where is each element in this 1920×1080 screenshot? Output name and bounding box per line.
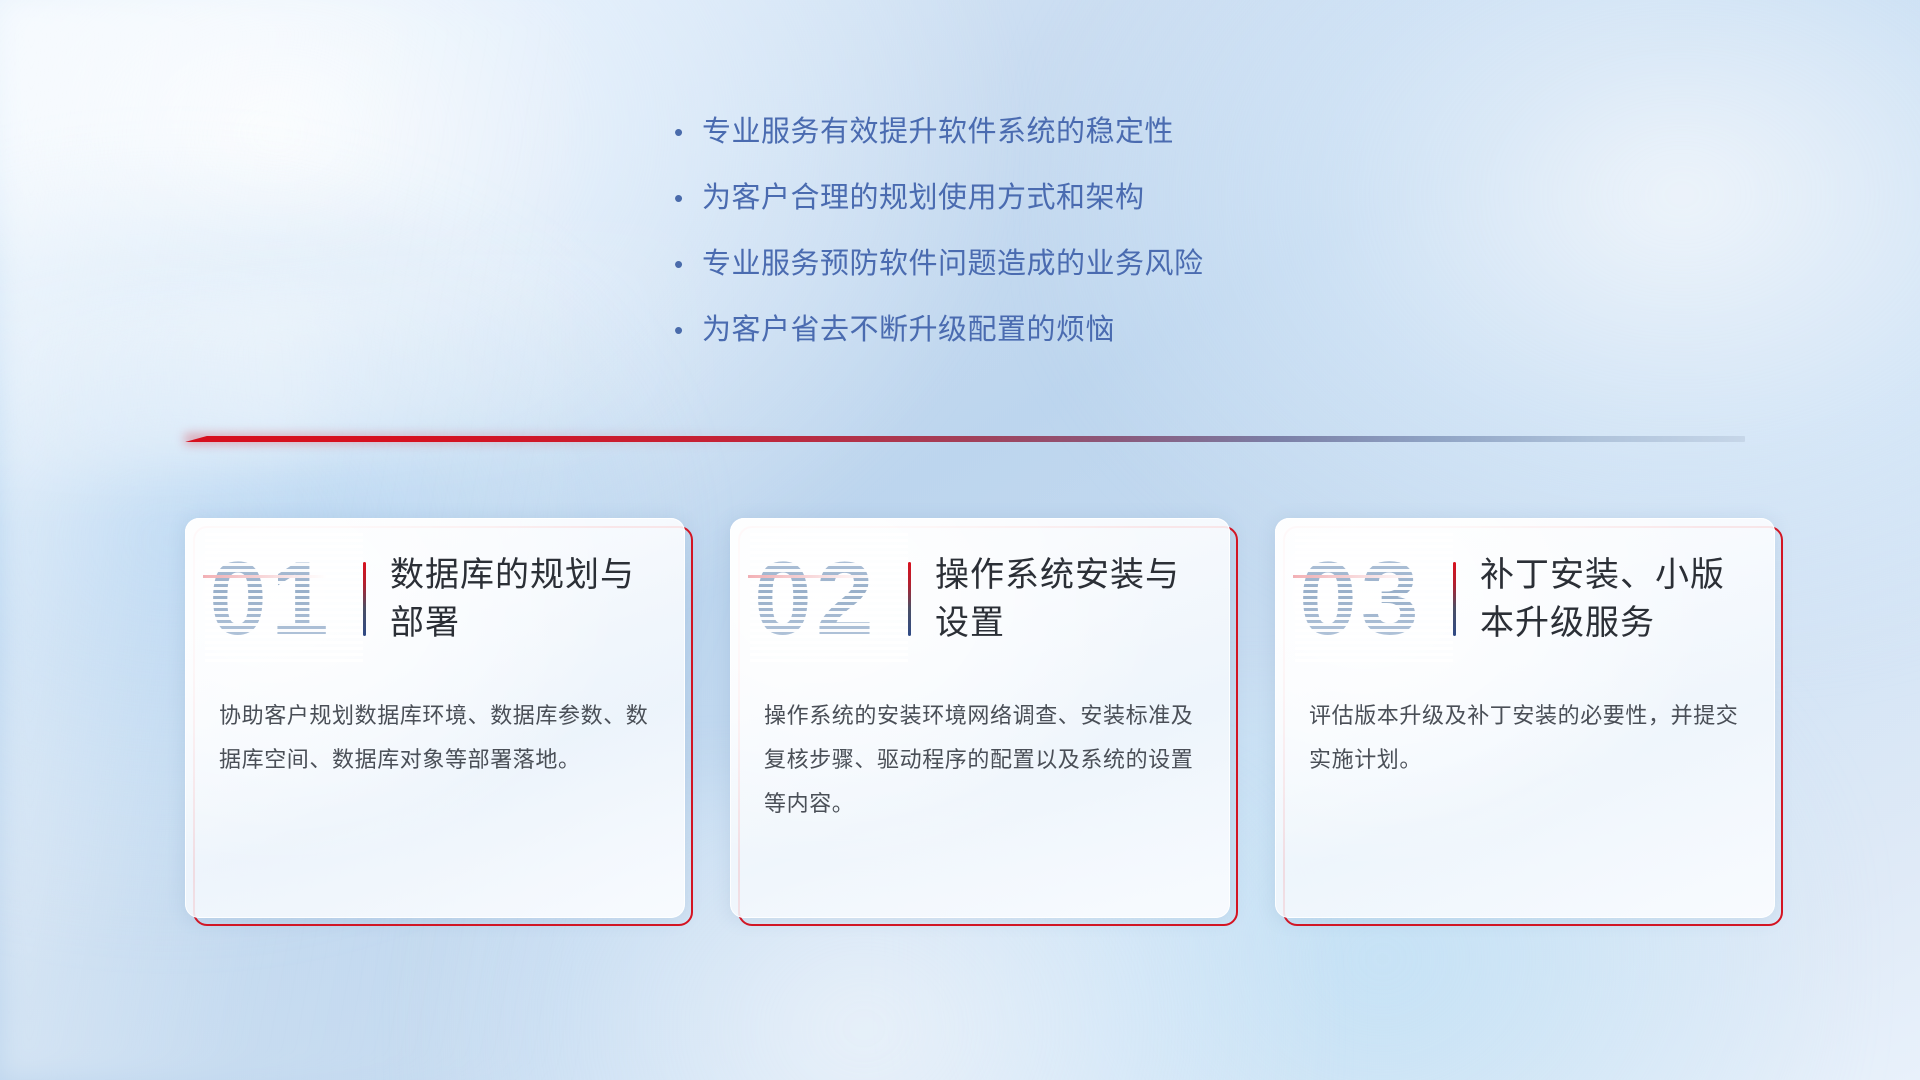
service-card-01[interactable]: 01 数据库的规划与部署 协助客户规划数据库环境、数据库参数、数据库空间、数据库… <box>185 518 685 918</box>
card-description: 协助客户规划数据库环境、数据库参数、数据库空间、数据库对象等部署落地。 <box>185 680 685 782</box>
card-title-rule <box>908 562 911 636</box>
card-number-text: 02 <box>754 539 904 659</box>
card-panel[interactable]: 01 数据库的规划与部署 协助客户规划数据库环境、数据库参数、数据库空间、数据库… <box>185 518 685 918</box>
bullet-dot-icon: • <box>672 310 702 350</box>
service-card-02[interactable]: 02 操作系统安装与设置 操作系统的安装环境网络调查、安装标准及复核步骤、驱动程… <box>730 518 1230 918</box>
bullet-dot-icon: • <box>672 178 702 218</box>
card-panel[interactable]: 03 补丁安装、小版本升级服务 评估版本升级及补丁安装的必要性，并提交实施计划。 <box>1275 518 1775 918</box>
card-number-text: 03 <box>1299 539 1449 659</box>
card-header: 01 数据库的规划与部署 <box>185 518 685 680</box>
card-number-watermark: 01 <box>209 539 359 659</box>
card-header: 02 操作系统安装与设置 <box>730 518 1230 680</box>
bullet-text: 专业服务有效提升软件系统的稳定性 <box>702 112 1174 152</box>
bullet-item: • 为客户省去不断升级配置的烦恼 <box>672 310 1452 350</box>
card-header: 03 补丁安装、小版本升级服务 <box>1275 518 1775 680</box>
bullet-dot-icon: • <box>672 244 702 284</box>
card-number-watermark: 02 <box>754 539 904 659</box>
bullet-text: 专业服务预防软件问题造成的业务风险 <box>702 244 1204 284</box>
card-panel[interactable]: 02 操作系统安装与设置 操作系统的安装环境网络调查、安装标准及复核步骤、驱动程… <box>730 518 1230 918</box>
card-description: 评估版本升级及补丁安装的必要性，并提交实施计划。 <box>1275 680 1775 782</box>
divider-gradient-line <box>185 436 1745 442</box>
card-title: 数据库的规划与部署 <box>390 551 640 647</box>
service-card-03[interactable]: 03 补丁安装、小版本升级服务 评估版本升级及补丁安装的必要性，并提交实施计划。 <box>1275 518 1775 918</box>
bullet-item: • 为客户合理的规划使用方式和架构 <box>672 178 1452 218</box>
benefits-bullet-list: • 专业服务有效提升软件系统的稳定性 • 为客户合理的规划使用方式和架构 • 专… <box>672 112 1452 376</box>
bullet-dot-icon: • <box>672 112 702 152</box>
bullet-item: • 专业服务有效提升软件系统的稳定性 <box>672 112 1452 152</box>
card-title: 操作系统安装与设置 <box>935 551 1193 647</box>
card-description: 操作系统的安装环境网络调查、安装标准及复核步骤、驱动程序的配置以及系统的设置等内… <box>730 680 1230 826</box>
card-title-rule <box>1453 562 1456 636</box>
bullet-text: 为客户省去不断升级配置的烦恼 <box>702 310 1115 350</box>
section-divider <box>185 432 1745 448</box>
card-title-rule <box>363 562 366 636</box>
bullet-item: • 专业服务预防软件问题造成的业务风险 <box>672 244 1452 284</box>
card-number-watermark: 03 <box>1299 539 1449 659</box>
card-number-text: 01 <box>209 539 359 659</box>
card-title: 补丁安装、小版本升级服务 <box>1480 551 1748 647</box>
service-card-row: 01 数据库的规划与部署 协助客户规划数据库环境、数据库参数、数据库空间、数据库… <box>185 518 1775 938</box>
bullet-text: 为客户合理的规划使用方式和架构 <box>702 178 1145 218</box>
